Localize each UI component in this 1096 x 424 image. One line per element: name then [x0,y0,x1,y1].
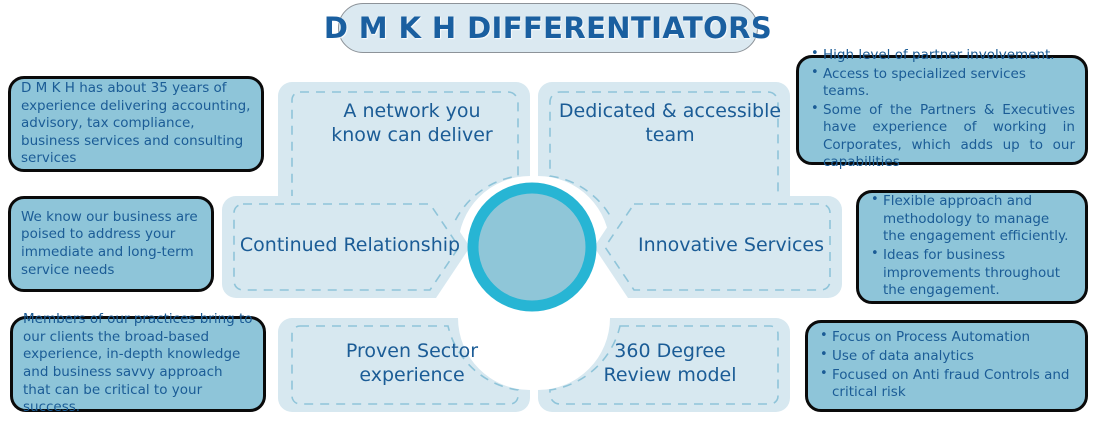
callout-experience-text: D M K H has about 35 years of experience… [21,80,251,168]
petal-degree[interactable] [538,318,790,412]
callout-flexible-approach: Flexible approach and methodology to man… [856,190,1088,304]
list-item: Access to specialized services teams. [809,66,1075,101]
list-item: Some of the Partners & Executives have e… [809,102,1075,172]
callout-experience: D M K H has about 35 years of experience… [8,76,264,172]
callout-process-automation-list: Focus on Process Automation Use of data … [818,329,1075,401]
callout-practices: Members of our practices bring to our cl… [10,316,266,412]
callout-process-automation: Focus on Process Automation Use of data … [805,320,1088,412]
callout-business-needs: We know our business are poised to addre… [8,196,214,292]
callout-flexible-approach-list: Flexible approach and methodology to man… [869,193,1075,299]
petal-degree-shape [538,318,790,412]
list-item: Flexible approach and methodology to man… [869,193,1075,246]
list-item: Use of data analytics [818,348,1075,366]
callout-partner-involvement-list: High level of partner involvement. Acces… [809,47,1075,172]
petal-innovative-shape [594,196,842,298]
callout-practices-text: Members of our practices bring to our cl… [23,311,253,416]
list-item: Ideas for business improvements througho… [869,247,1075,300]
petal-proven[interactable] [278,318,530,412]
petal-innovative[interactable] [594,196,842,298]
petal-continued[interactable] [222,196,470,298]
list-item: Focus on Process Automation [818,329,1075,347]
center-circle[interactable] [473,188,591,306]
list-item: Focused on Anti fraud Controls and criti… [818,367,1075,402]
callout-business-needs-text: We know our business are poised to addre… [21,209,201,279]
list-item: High level of partner involvement. [809,47,1075,65]
petal-proven-shape [278,318,530,412]
petal-continued-shape [222,196,470,298]
callout-partner-involvement: High level of partner involvement. Acces… [796,55,1088,165]
